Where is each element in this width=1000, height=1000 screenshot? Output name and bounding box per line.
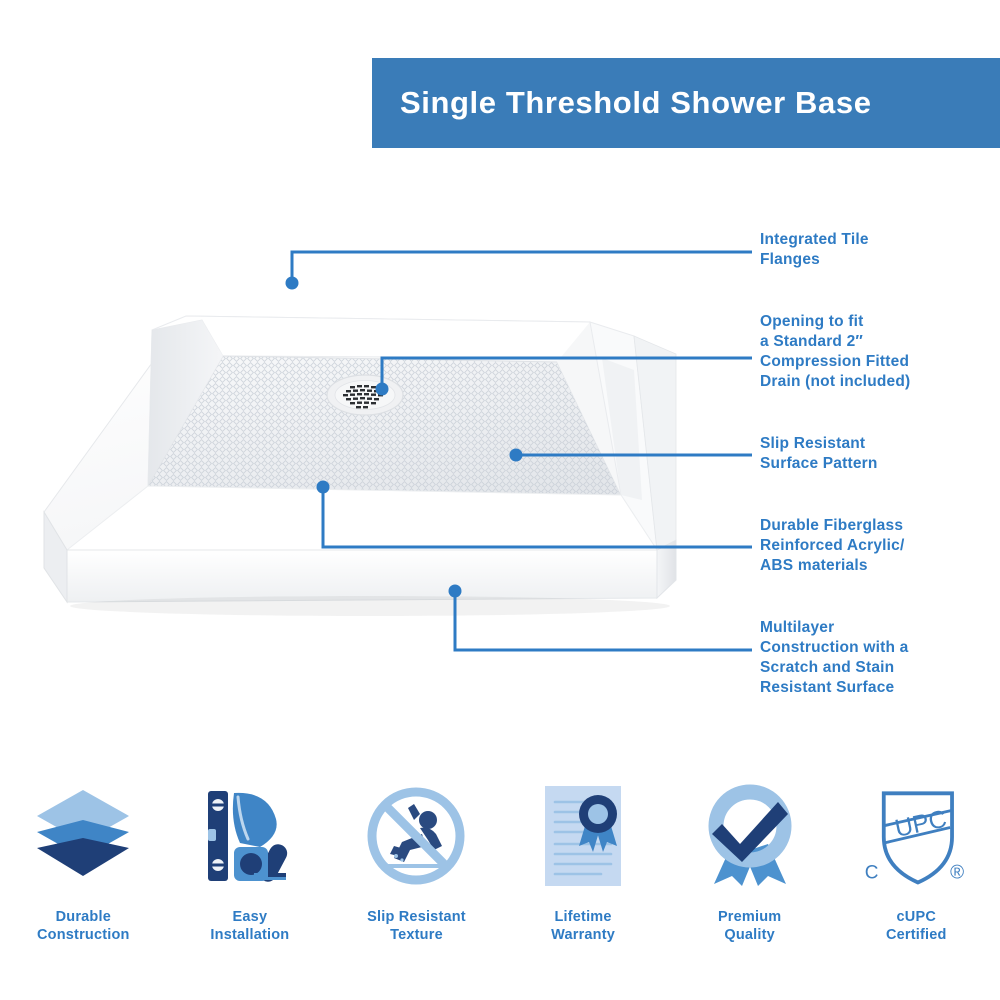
infographic-page: Single Threshold Shower Base (0, 0, 1000, 1000)
check-ribbon-icon (695, 780, 805, 892)
feature-label: Lifetime Warranty (551, 908, 615, 944)
callout-line: Scratch and Stain (760, 658, 1000, 678)
page-title: Single Threshold Shower Base (400, 85, 872, 121)
callout-line: Surface Pattern (760, 454, 1000, 474)
callout-line: ABS materials (760, 556, 1000, 576)
feature-label: cUPC Certified (886, 908, 947, 944)
callout-durable-materials: Durable Fiberglass Reinforced Acrylic/ A… (760, 516, 1000, 576)
callout-line: Flanges (760, 250, 1000, 270)
feature-label: Durable Construction (37, 908, 130, 944)
callout-line: a Standard 2″ (760, 332, 1000, 352)
callout-line: Integrated Tile (760, 230, 1000, 250)
feature-label-line: Warranty (551, 926, 615, 944)
callout-line: Opening to fit (760, 312, 1000, 332)
upc-shield-icon: UPC C ® (861, 780, 971, 892)
layers-icon (28, 780, 138, 892)
feature-slip-resistant-texture: Slip Resistant Texture (333, 780, 500, 944)
registered-mark: ® (950, 863, 964, 884)
feature-label: Premium Quality (718, 908, 781, 944)
feature-label-line: Quality (718, 926, 781, 944)
callout-line: Reinforced Acrylic/ (760, 536, 1000, 556)
feature-lifetime-warranty: Lifetime Warranty (500, 780, 667, 944)
feature-easy-installation: Easy Installation (167, 780, 334, 944)
tools-level-trowel-icon (195, 780, 305, 892)
feature-label-line: Slip Resistant (367, 908, 466, 926)
product-image (30, 250, 730, 630)
certificate-icon (528, 780, 638, 892)
callout-drain-opening: Opening to fit a Standard 2″ Compression… (760, 312, 1000, 392)
feature-label-line: Premium (718, 908, 781, 926)
upc-shield-text: UPC (893, 806, 950, 843)
callout-line: Compression Fitted (760, 352, 1000, 372)
callout-line: Resistant Surface (760, 678, 1000, 698)
feature-label: Easy Installation (210, 908, 289, 944)
callout-slip-resistant-surface: Slip Resistant Surface Pattern (760, 434, 1000, 474)
feature-label-line: Texture (367, 926, 466, 944)
callout-line: Durable Fiberglass (760, 516, 1000, 536)
callout-line: Slip Resistant (760, 434, 1000, 454)
feature-premium-quality: Premium Quality (666, 780, 833, 944)
callout-line: Construction with a (760, 638, 1000, 658)
feature-label-line: Installation (210, 926, 289, 944)
no-slip-icon (361, 780, 471, 892)
callout-line: Multilayer (760, 618, 1000, 638)
upc-prefix-text: C (865, 863, 879, 884)
callout-line: Drain (not included) (760, 372, 1000, 392)
feature-label: Slip Resistant Texture (367, 908, 466, 944)
feature-label-line: Certified (886, 926, 947, 944)
feature-durable-construction: Durable Construction (0, 780, 167, 944)
feature-label-line: Easy (210, 908, 289, 926)
callout-integrated-tile-flanges: Integrated Tile Flanges (760, 230, 1000, 270)
callout-multilayer-construction: Multilayer Construction with a Scratch a… (760, 618, 1000, 698)
feature-label-line: Lifetime (551, 908, 615, 926)
feature-icon-row: Durable Construction (0, 780, 1000, 980)
header-banner: Single Threshold Shower Base (372, 58, 1000, 148)
feature-cupc-certified: UPC C ® cUPC Certified (833, 780, 1000, 944)
feature-label-line: Construction (37, 926, 130, 944)
feature-label-line: Durable (37, 908, 130, 926)
drain-opening-icon (327, 375, 403, 415)
shower-base-illustration (30, 250, 730, 630)
feature-label-line: cUPC (886, 908, 947, 926)
